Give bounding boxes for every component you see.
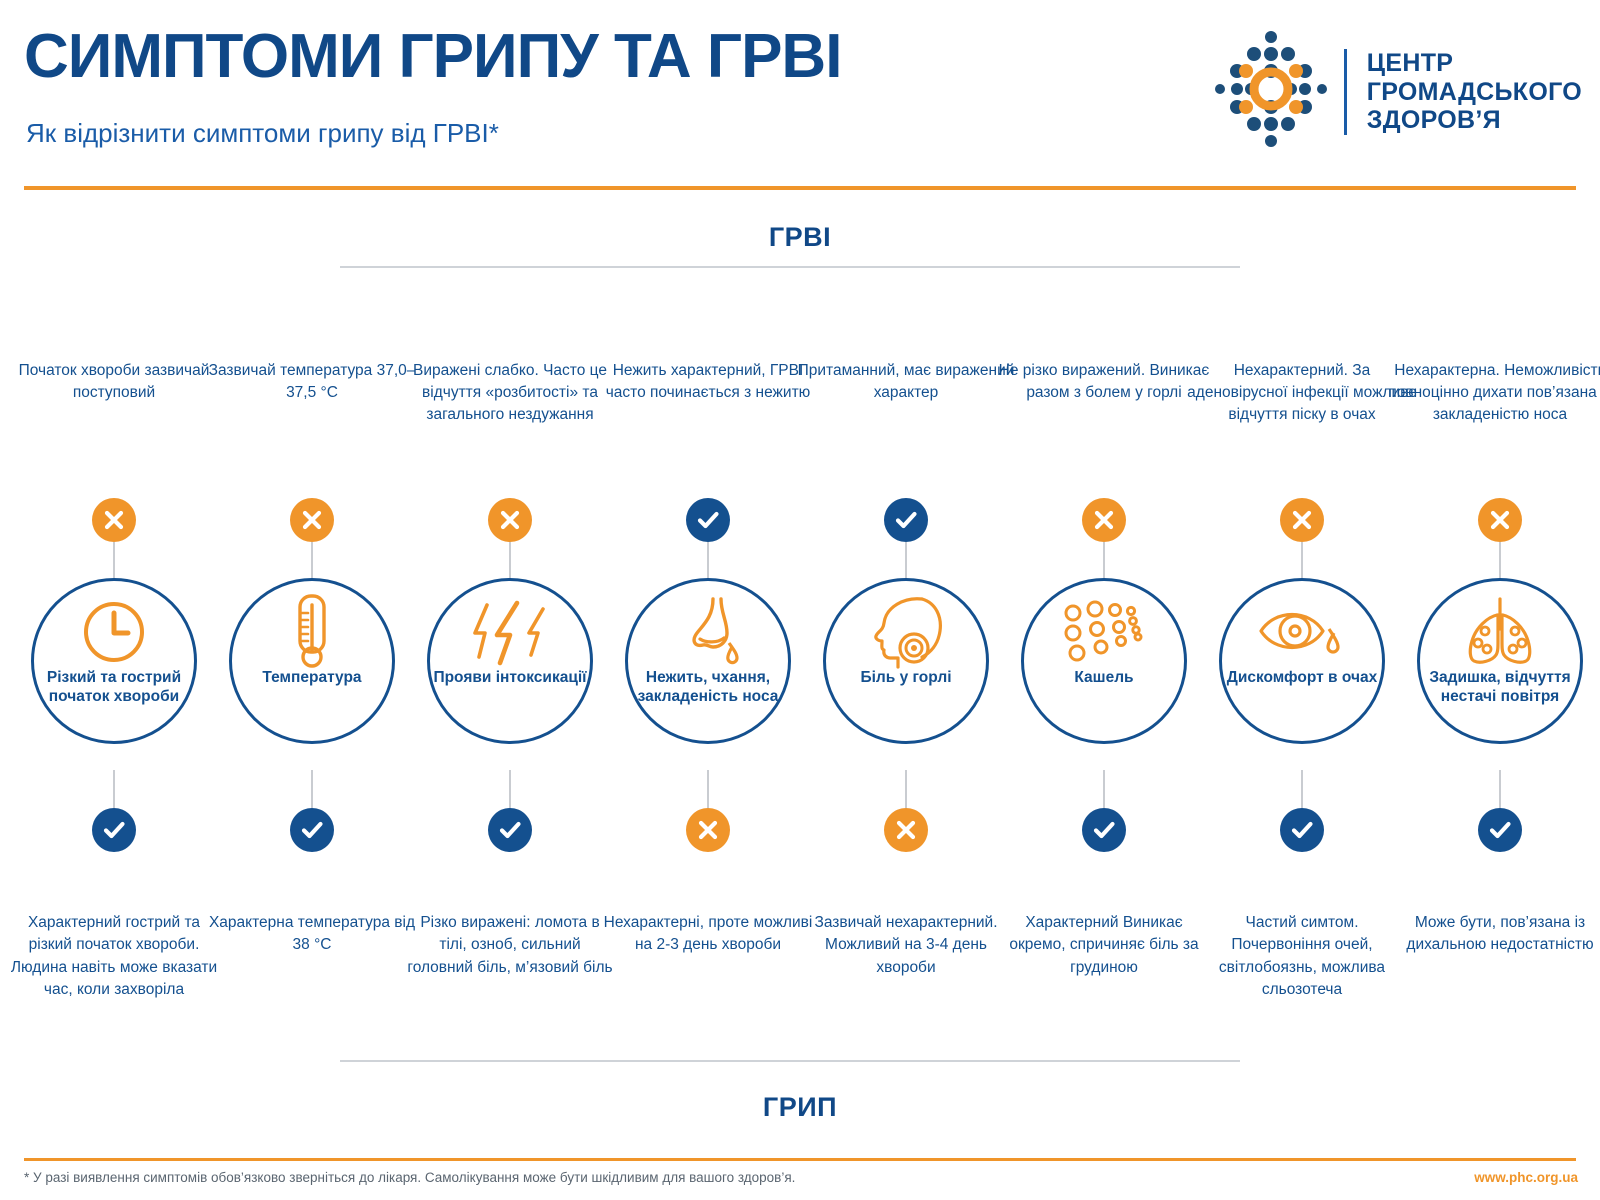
- symptom-column: Не різко виражений. Виникає разом з боле…: [1004, 0, 1204, 1200]
- flu-note: Зазвичай нехарактерний. Можливий на 3-4 …: [801, 912, 1011, 979]
- arvi-mark-cross-icon: [1082, 498, 1126, 542]
- connector-line-bottom: [707, 770, 709, 808]
- teary-eye-icon: [1222, 595, 1382, 669]
- symptom-bubble[interactable]: Нежить, чхання, закладеність носа: [625, 578, 791, 744]
- symptom-label: Біль у горлі: [818, 669, 994, 688]
- arvi-mark-check-icon: [686, 498, 730, 542]
- symptom-column: Нехарактерний. За аденовірусної інфекції…: [1202, 0, 1402, 1200]
- arvi-note: Виражені слабко. Часто це відчуття «розб…: [395, 360, 625, 426]
- connector-line-bottom: [311, 770, 313, 808]
- flu-mark-cross-icon: [884, 808, 928, 852]
- connector-line-bottom: [113, 770, 115, 808]
- symptom-column: Нежить характерний, ГРВІ часто починаєть…: [608, 0, 808, 1200]
- connector-line-top: [905, 542, 907, 580]
- lungs-icon: [1420, 595, 1580, 669]
- arvi-note: Притаманний, має виражений характер: [791, 360, 1021, 404]
- flu-mark-check-icon: [1280, 808, 1324, 852]
- footer-disclaimer: * У разі виявлення симптомів обов’язково…: [24, 1170, 795, 1185]
- flu-note: Може бути, пов’язана із дихальною недост…: [1395, 912, 1600, 957]
- clock-icon: [34, 595, 194, 669]
- runny-nose-icon: [628, 595, 788, 669]
- symptom-label: Температура: [224, 669, 400, 688]
- flu-mark-check-icon: [92, 808, 136, 852]
- symptom-label: Прояви інтоксикації: [422, 669, 598, 688]
- symptom-bubble[interactable]: Біль у горлі: [823, 578, 989, 744]
- flu-note: Характерна температура від 38 °С: [207, 912, 417, 957]
- footer-divider-rule: [24, 1158, 1576, 1161]
- cough-droplets-icon: [1024, 595, 1184, 669]
- lightning-bolts-icon: [430, 595, 590, 669]
- arvi-mark-cross-icon: [1478, 498, 1522, 542]
- symptom-column: Нехарактерна. Неможливість повноцінно ди…: [1400, 0, 1600, 1200]
- flu-mark-check-icon: [1478, 808, 1522, 852]
- arvi-note: Нежить характерний, ГРВІ часто починаєть…: [593, 360, 823, 404]
- connector-line-top: [1301, 542, 1303, 580]
- connector-line-top: [113, 542, 115, 580]
- symptom-bubble[interactable]: Кашель: [1021, 578, 1187, 744]
- connector-line-bottom: [509, 770, 511, 808]
- flu-note: Нехарактерні, проте можливі на 2-3 день …: [603, 912, 813, 957]
- flu-mark-cross-icon: [686, 808, 730, 852]
- flu-note: Характерний Виникає окремо, спричиняє бі…: [999, 912, 1209, 979]
- connector-line-top: [1499, 542, 1501, 580]
- sore-throat-head-icon: [826, 595, 986, 669]
- flu-note: Різко виражені: ломота в тілі, озноб, си…: [405, 912, 615, 979]
- symptom-bubble[interactable]: Дискомфорт в очах: [1219, 578, 1385, 744]
- connector-line-top: [1103, 542, 1105, 580]
- symptom-bubble[interactable]: Температура: [229, 578, 395, 744]
- flu-note: Частий симтом. Почервоніння очей, світло…: [1197, 912, 1407, 1002]
- connector-line-bottom: [1301, 770, 1303, 808]
- connector-line-top: [509, 542, 511, 580]
- connector-line-bottom: [1103, 770, 1105, 808]
- arvi-note: Нехарактерний. За аденовірусної інфекції…: [1187, 360, 1417, 426]
- arvi-note: Нехарактерна. Неможливість повноцінно ди…: [1385, 360, 1600, 426]
- symptom-label: Задишка, відчуття нестачі повітря: [1412, 669, 1588, 707]
- flu-mark-check-icon: [290, 808, 334, 852]
- arvi-mark-cross-icon: [488, 498, 532, 542]
- connector-line-top: [311, 542, 313, 580]
- arvi-note: Не різко виражений. Виникає разом з боле…: [989, 360, 1219, 404]
- symptom-bubble[interactable]: Задишка, відчуття нестачі повітря: [1417, 578, 1583, 744]
- symptom-column: Притаманний, має виражений характер Біль…: [806, 0, 1006, 1200]
- symptom-label: Різкий та гострий початок хвороби: [26, 669, 202, 707]
- connector-line-bottom: [1499, 770, 1501, 808]
- symptom-bubble[interactable]: Різкий та гострий початок хвороби: [31, 578, 197, 744]
- symptom-column: Зазвичай температура 37,0–37,5 °С Темпер…: [212, 0, 412, 1200]
- symptom-column: Виражені слабко. Часто це відчуття «розб…: [410, 0, 610, 1200]
- thermometer-icon: [232, 595, 392, 669]
- arvi-note: Зазвичай температура 37,0–37,5 °С: [197, 360, 427, 404]
- footer-url[interactable]: www.phc.org.ua: [1474, 1170, 1578, 1185]
- flu-note: Характерний гострий та різкий початок хв…: [9, 912, 219, 1002]
- flu-mark-check-icon: [488, 808, 532, 852]
- symptom-grid: Початок хвороби зазвичай поступовий Різк…: [0, 0, 1600, 1200]
- arvi-mark-cross-icon: [1280, 498, 1324, 542]
- arvi-mark-check-icon: [884, 498, 928, 542]
- symptom-bubble[interactable]: Прояви інтоксикації: [427, 578, 593, 744]
- connector-line-bottom: [905, 770, 907, 808]
- symptom-label: Нежить, чхання, закладеність носа: [620, 669, 796, 707]
- flu-mark-check-icon: [1082, 808, 1126, 852]
- symptom-label: Кашель: [1016, 669, 1192, 688]
- connector-line-top: [707, 542, 709, 580]
- arvi-mark-cross-icon: [92, 498, 136, 542]
- symptom-column: Початок хвороби зазвичай поступовий Різк…: [14, 0, 214, 1200]
- symptom-label: Дискомфорт в очах: [1214, 669, 1390, 688]
- arvi-mark-cross-icon: [290, 498, 334, 542]
- arvi-note: Початок хвороби зазвичай поступовий: [0, 360, 229, 404]
